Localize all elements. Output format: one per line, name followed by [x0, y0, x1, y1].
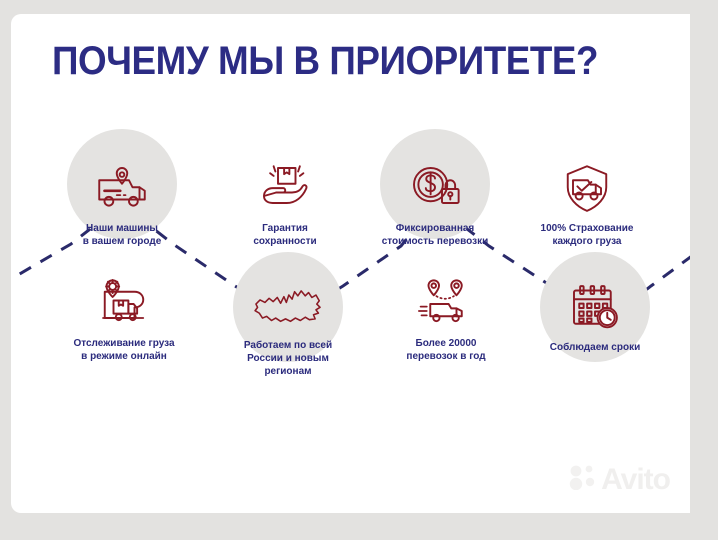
feature-label: 100% Страхование каждого груза: [541, 222, 634, 248]
feature-item-online-cargo-tracking[interactable]: Отслеживание груза в режиме онлайн: [44, 277, 204, 363]
infographic-card: ПОЧЕМУ МЫ В ПРИОРИТЕТЕ? Наши ма: [11, 14, 690, 513]
feature-item-full-cargo-insurance[interactable]: 100% Страхование каждого груза: [507, 162, 667, 248]
shield-truck-check-icon: [559, 162, 615, 216]
avito-watermark: Avito: [567, 464, 670, 495]
hand-holding-box-icon: [257, 162, 313, 216]
calendar-clock-icon: [567, 281, 623, 335]
page-title: ПОЧЕМУ МЫ В ПРИОРИТЕТЕ?: [52, 38, 598, 84]
feature-item-over-20000-shipments[interactable]: Более 20000 перевозок в год: [366, 277, 526, 363]
avito-logo-icon: [567, 464, 597, 495]
feature-label: Гарантия сохранности: [253, 222, 316, 248]
feature-item-our-trucks-in-your-city[interactable]: Наши машины в вашем городе: [42, 162, 202, 248]
truck-tracking-gear-pin-icon: [96, 277, 152, 331]
feature-label: Более 20000 перевозок в год: [406, 337, 485, 363]
feature-label: Наши машины в вашем городе: [83, 222, 162, 248]
russia-map-icon: [251, 285, 325, 333]
feature-label: Отслеживание груза в режиме онлайн: [73, 337, 174, 363]
feature-label: Соблюдаем сроки: [550, 341, 640, 354]
avito-watermark-text: Avito: [601, 465, 670, 495]
feature-label: Фиксированная стоимость перевозки: [382, 222, 489, 248]
feature-item-safety-guarantee[interactable]: Гарантия сохранности: [205, 162, 365, 248]
truck-with-location-pin-icon: [94, 162, 150, 216]
feature-item-we-meet-deadlines[interactable]: Соблюдаем сроки: [515, 281, 675, 354]
truck-route-pins-icon: [418, 277, 474, 331]
feature-item-fixed-shipping-cost[interactable]: Фиксированная стоимость перевозки: [355, 162, 515, 248]
feature-item-work-across-russia[interactable]: Работаем по всей России и новым регионам: [208, 285, 368, 378]
dollar-coin-with-lock-icon: [407, 162, 463, 216]
feature-label: Работаем по всей России и новым регионам: [244, 339, 332, 378]
